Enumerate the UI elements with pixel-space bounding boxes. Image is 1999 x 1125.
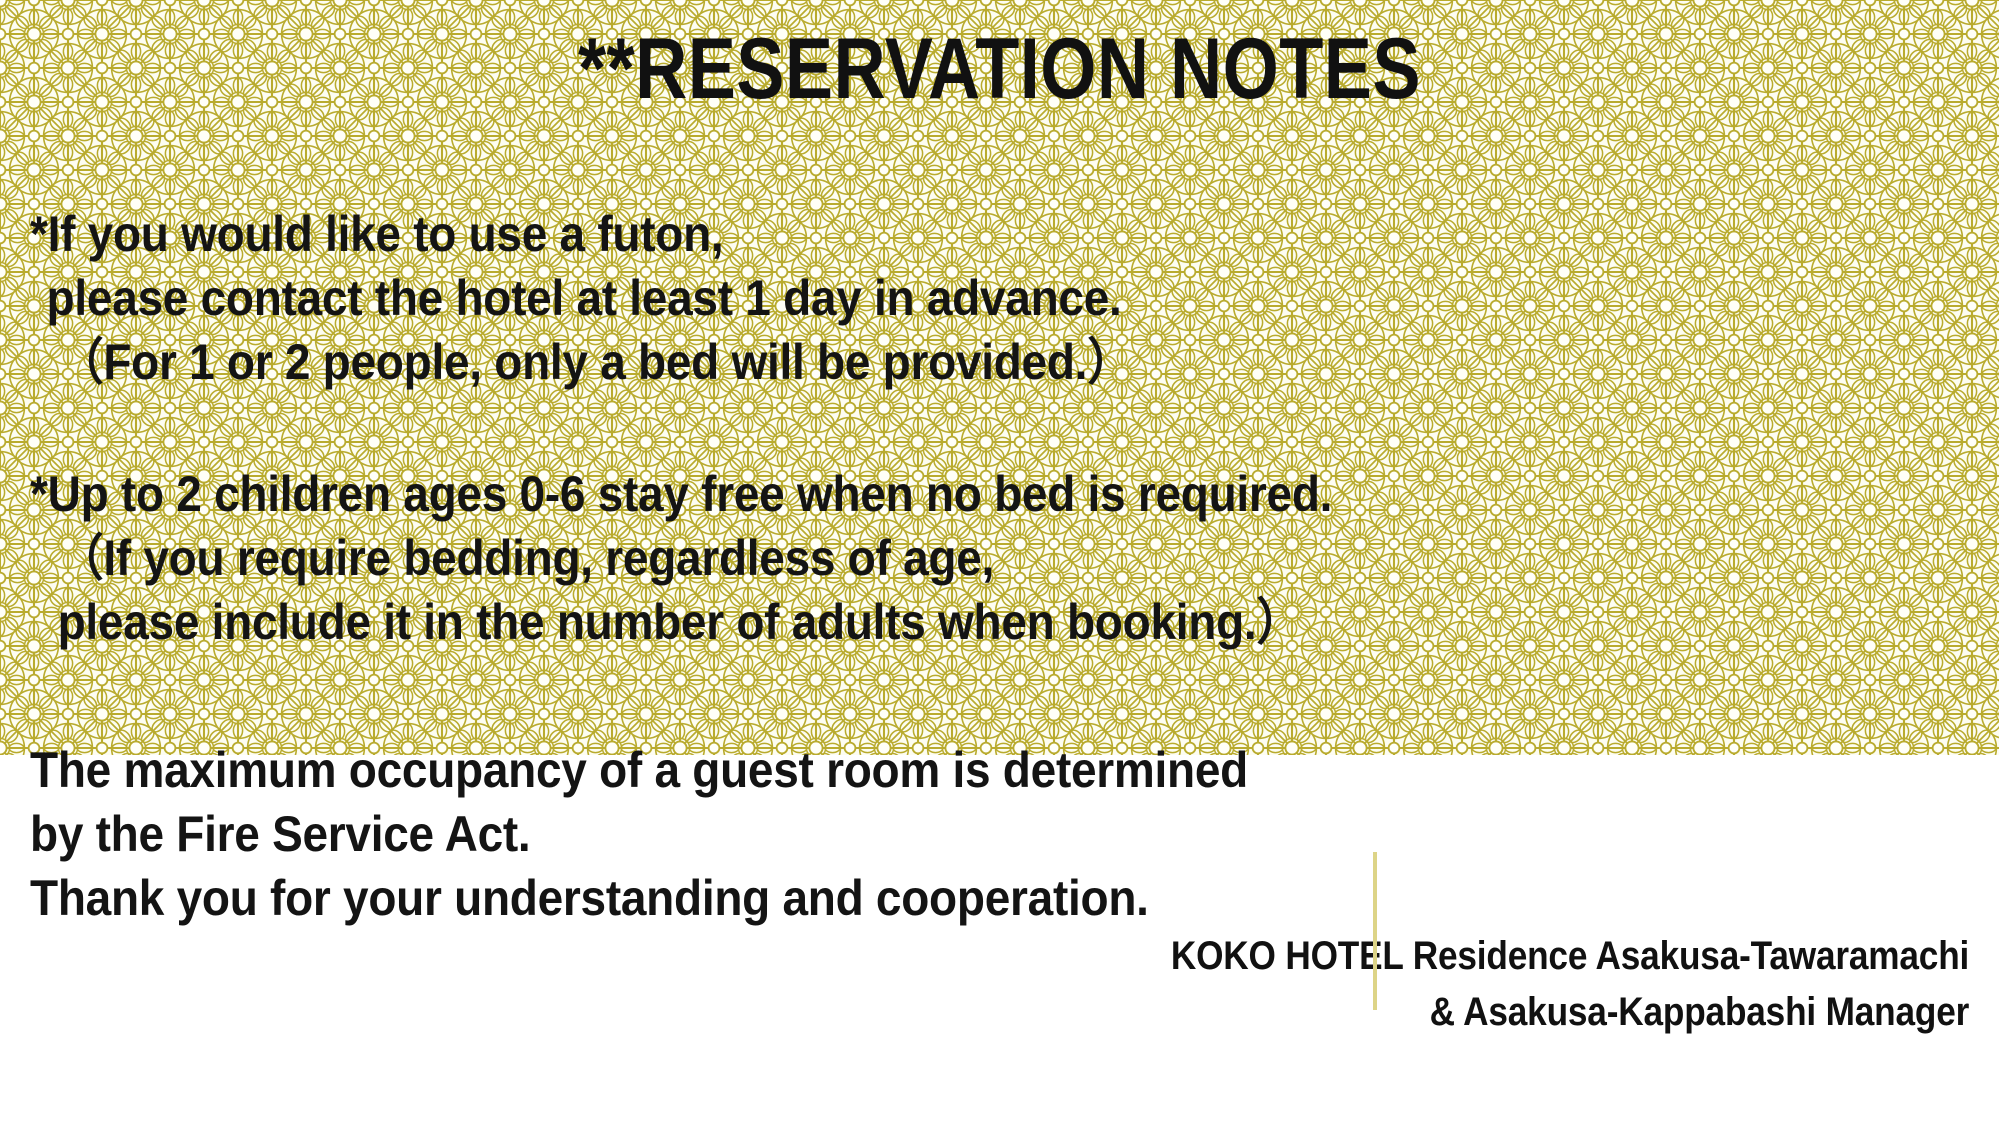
signature-line-2: & Asakusa-Kappabashi Manager — [1171, 984, 1969, 1040]
futon-line-3: （For 1 or 2 people, only a bed will be p… — [30, 330, 1133, 394]
paragraph-children: *Up to 2 children ages 0-6 stay free whe… — [30, 462, 1332, 654]
poster-content: **RESERVATION NOTES *If you would like t… — [0, 0, 1999, 1125]
signature-line-1: KOKO HOTEL Residence Asakusa-Tawaramachi — [1171, 928, 1969, 984]
reservation-notes-poster: **RESERVATION NOTES *If you would like t… — [0, 0, 1999, 1125]
paragraph-futon: *If you would like to use a futon, pleas… — [30, 202, 1133, 394]
futon-line-1: *If you would like to use a futon, — [30, 202, 1133, 266]
occupancy-line-1: The maximum occupancy of a guest room is… — [30, 738, 1248, 802]
children-line-3: please include it in the number of adult… — [30, 590, 1332, 654]
signature-vertical-rule — [1373, 852, 1377, 1010]
occupancy-line-2: by the Fire Service Act. — [30, 802, 1248, 866]
paragraph-occupancy: The maximum occupancy of a guest room is… — [30, 738, 1248, 930]
page-title: **RESERVATION NOTES — [160, 26, 1839, 112]
children-line-2: （If you require bedding, regardless of a… — [30, 526, 1332, 590]
occupancy-line-3: Thank you for your understanding and coo… — [30, 866, 1248, 930]
futon-line-2: please contact the hotel at least 1 day … — [30, 266, 1133, 330]
signature-block: KOKO HOTEL Residence Asakusa-Tawaramachi… — [1171, 928, 1969, 1040]
children-line-1: *Up to 2 children ages 0-6 stay free whe… — [30, 462, 1332, 526]
